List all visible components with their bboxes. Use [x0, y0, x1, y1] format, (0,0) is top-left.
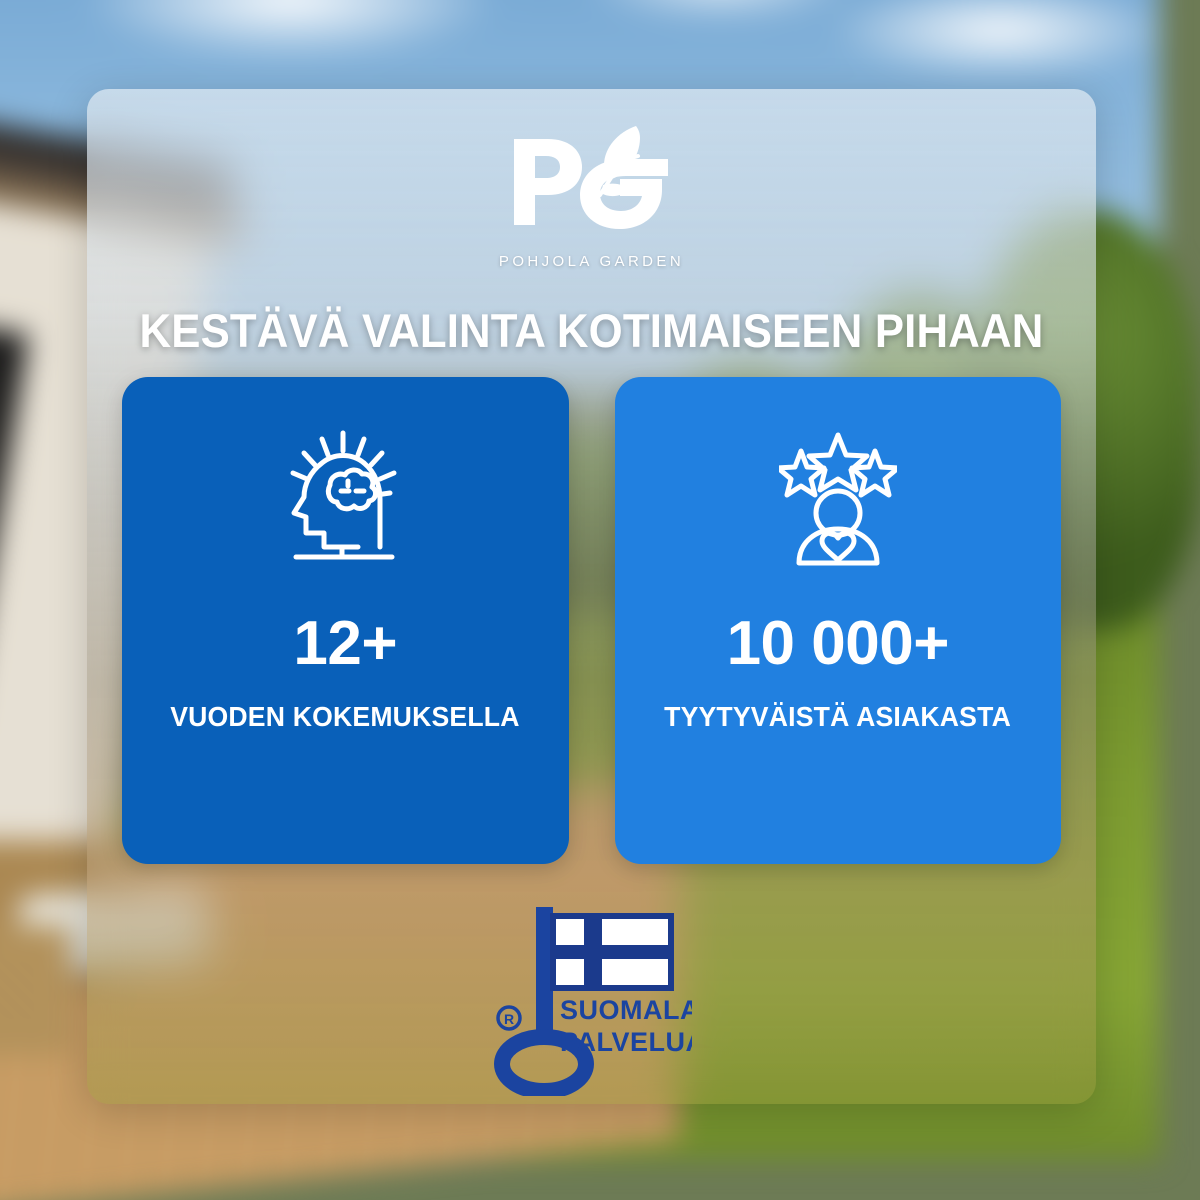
- badge-line-2: PALVELUA: [560, 1027, 692, 1057]
- svg-text:R: R: [503, 1011, 513, 1027]
- page-title: KESTÄVÄ VALINTA KOTIMAISEEN PIHAAN: [122, 303, 1060, 358]
- three-stars-person-heart-icon: [779, 429, 897, 569]
- registered-trademark-icon: R: [498, 1007, 520, 1029]
- stat-label-experience: VUODEN KOKEMUKSELLA: [171, 701, 520, 733]
- chair-armrest: [0, 925, 70, 1055]
- brain-head-idea-icon: [286, 429, 404, 569]
- brand-wordmark: POHJOLA GARDEN: [499, 253, 684, 270]
- finnish-key-flag-icon: R SUOMALAISTA PALVELUA: [492, 901, 692, 1096]
- stat-label-customers: TYYTYVÄISTÄ ASIAKASTA: [664, 701, 1011, 733]
- pg-leaf-monogram-icon: [508, 123, 676, 241]
- stat-card-group: 12+ VUODEN KOKEMUKSELLA: [122, 377, 1061, 864]
- frosted-glass-panel: POHJOLA GARDEN KESTÄVÄ VALINTA KOTIMAISE…: [87, 89, 1096, 1104]
- stat-value-experience: 12+: [293, 613, 397, 675]
- stat-card-experience[interactable]: 12+ VUODEN KOKEMUKSELLA: [122, 377, 569, 864]
- badge-line-1: SUOMALAISTA: [560, 995, 692, 1025]
- avainlippu-badge: R SUOMALAISTA PALVELUA: [87, 901, 1096, 1096]
- brand-logo: POHJOLA GARDEN: [87, 123, 1096, 270]
- stat-value-customers: 10 000+: [727, 613, 949, 675]
- stat-card-customers[interactable]: 10 000+ TYYTYVÄISTÄ ASIAKASTA: [615, 377, 1062, 864]
